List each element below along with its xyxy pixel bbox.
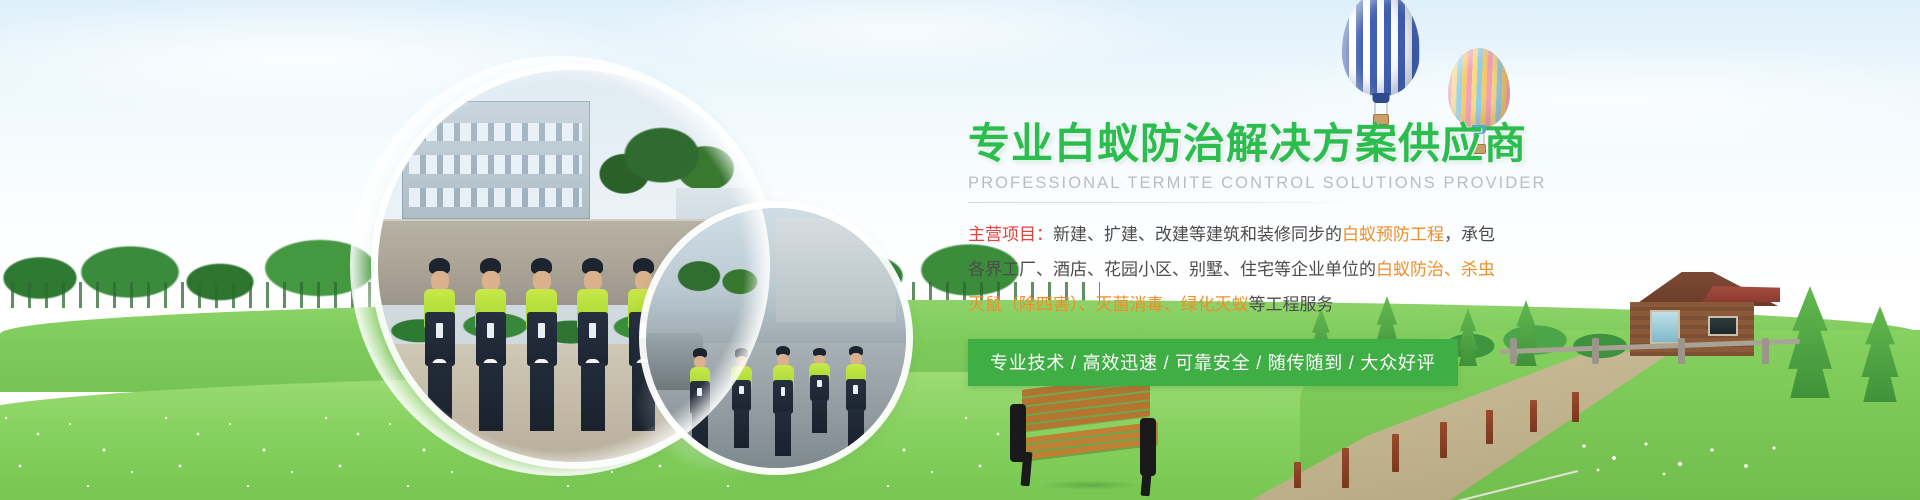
- body-line-3: 灭鼠（除四害）、灭菌消毒、绿化灭蚁等工程服务: [968, 287, 1728, 322]
- body-line-1-highlight: 白蚁预防工程: [1342, 225, 1444, 244]
- hot-air-balloon-blue-icon: [1342, 0, 1420, 96]
- body-line-3-highlight: 灭鼠（除四害）、灭菌消毒、绿化灭蚁: [968, 295, 1249, 314]
- promo-banner: 专业白蚁防治解决方案供应商 PROFESSIONAL TERMITE CONTR…: [0, 0, 1920, 500]
- headline-divider: [968, 202, 1352, 203]
- body-copy: 主营项目：新建、扩建、改建等建筑和装修同步的白蚁预防工程，承包 各界工厂、酒店、…: [968, 217, 1728, 322]
- rope-post-fence: [1260, 392, 1620, 488]
- banner-copy: 专业白蚁防治解决方案供应商 PROFESSIONAL TERMITE CONTR…: [968, 120, 1728, 386]
- daisy-flowers-right: [1570, 436, 1800, 482]
- photo-collage: [330, 46, 1010, 466]
- body-line-2-highlight: 白蚁防治、杀虫: [1376, 260, 1495, 279]
- park-bench-icon: [1000, 378, 1170, 490]
- headline-english: PROFESSIONAL TERMITE CONTROL SOLUTIONS P…: [968, 174, 1728, 193]
- body-line-2: 各界工厂、酒店、花园小区、别墅、住宅等企业单位的白蚁防治、杀虫: [968, 252, 1728, 287]
- body-line-1-seg3: ，承包: [1444, 225, 1495, 244]
- body-line-1: 主营项目：新建、扩建、改建等建筑和装修同步的白蚁预防工程，承包: [968, 217, 1728, 252]
- headline-chinese: 专业白蚁防治解决方案供应商: [968, 120, 1728, 168]
- body-line-2-seg1: 各界工厂、酒店、花园小区、别墅、住宅等企业单位的: [968, 260, 1376, 279]
- body-line-3-seg2: 等工程服务: [1249, 295, 1334, 314]
- hot-air-balloon-colorful-icon: [1448, 48, 1510, 128]
- main-projects-label: 主营项目: [968, 225, 1036, 244]
- team-photo-secondary: [646, 208, 906, 468]
- features-ribbon: 专业技术 / 高效迅速 / 可靠安全 / 随传随到 / 大众好评: [968, 339, 1458, 386]
- main-projects-colon: ：: [1036, 225, 1053, 244]
- body-line-1-seg1: 新建、扩建、改建等建筑和装修同步的: [1053, 225, 1342, 244]
